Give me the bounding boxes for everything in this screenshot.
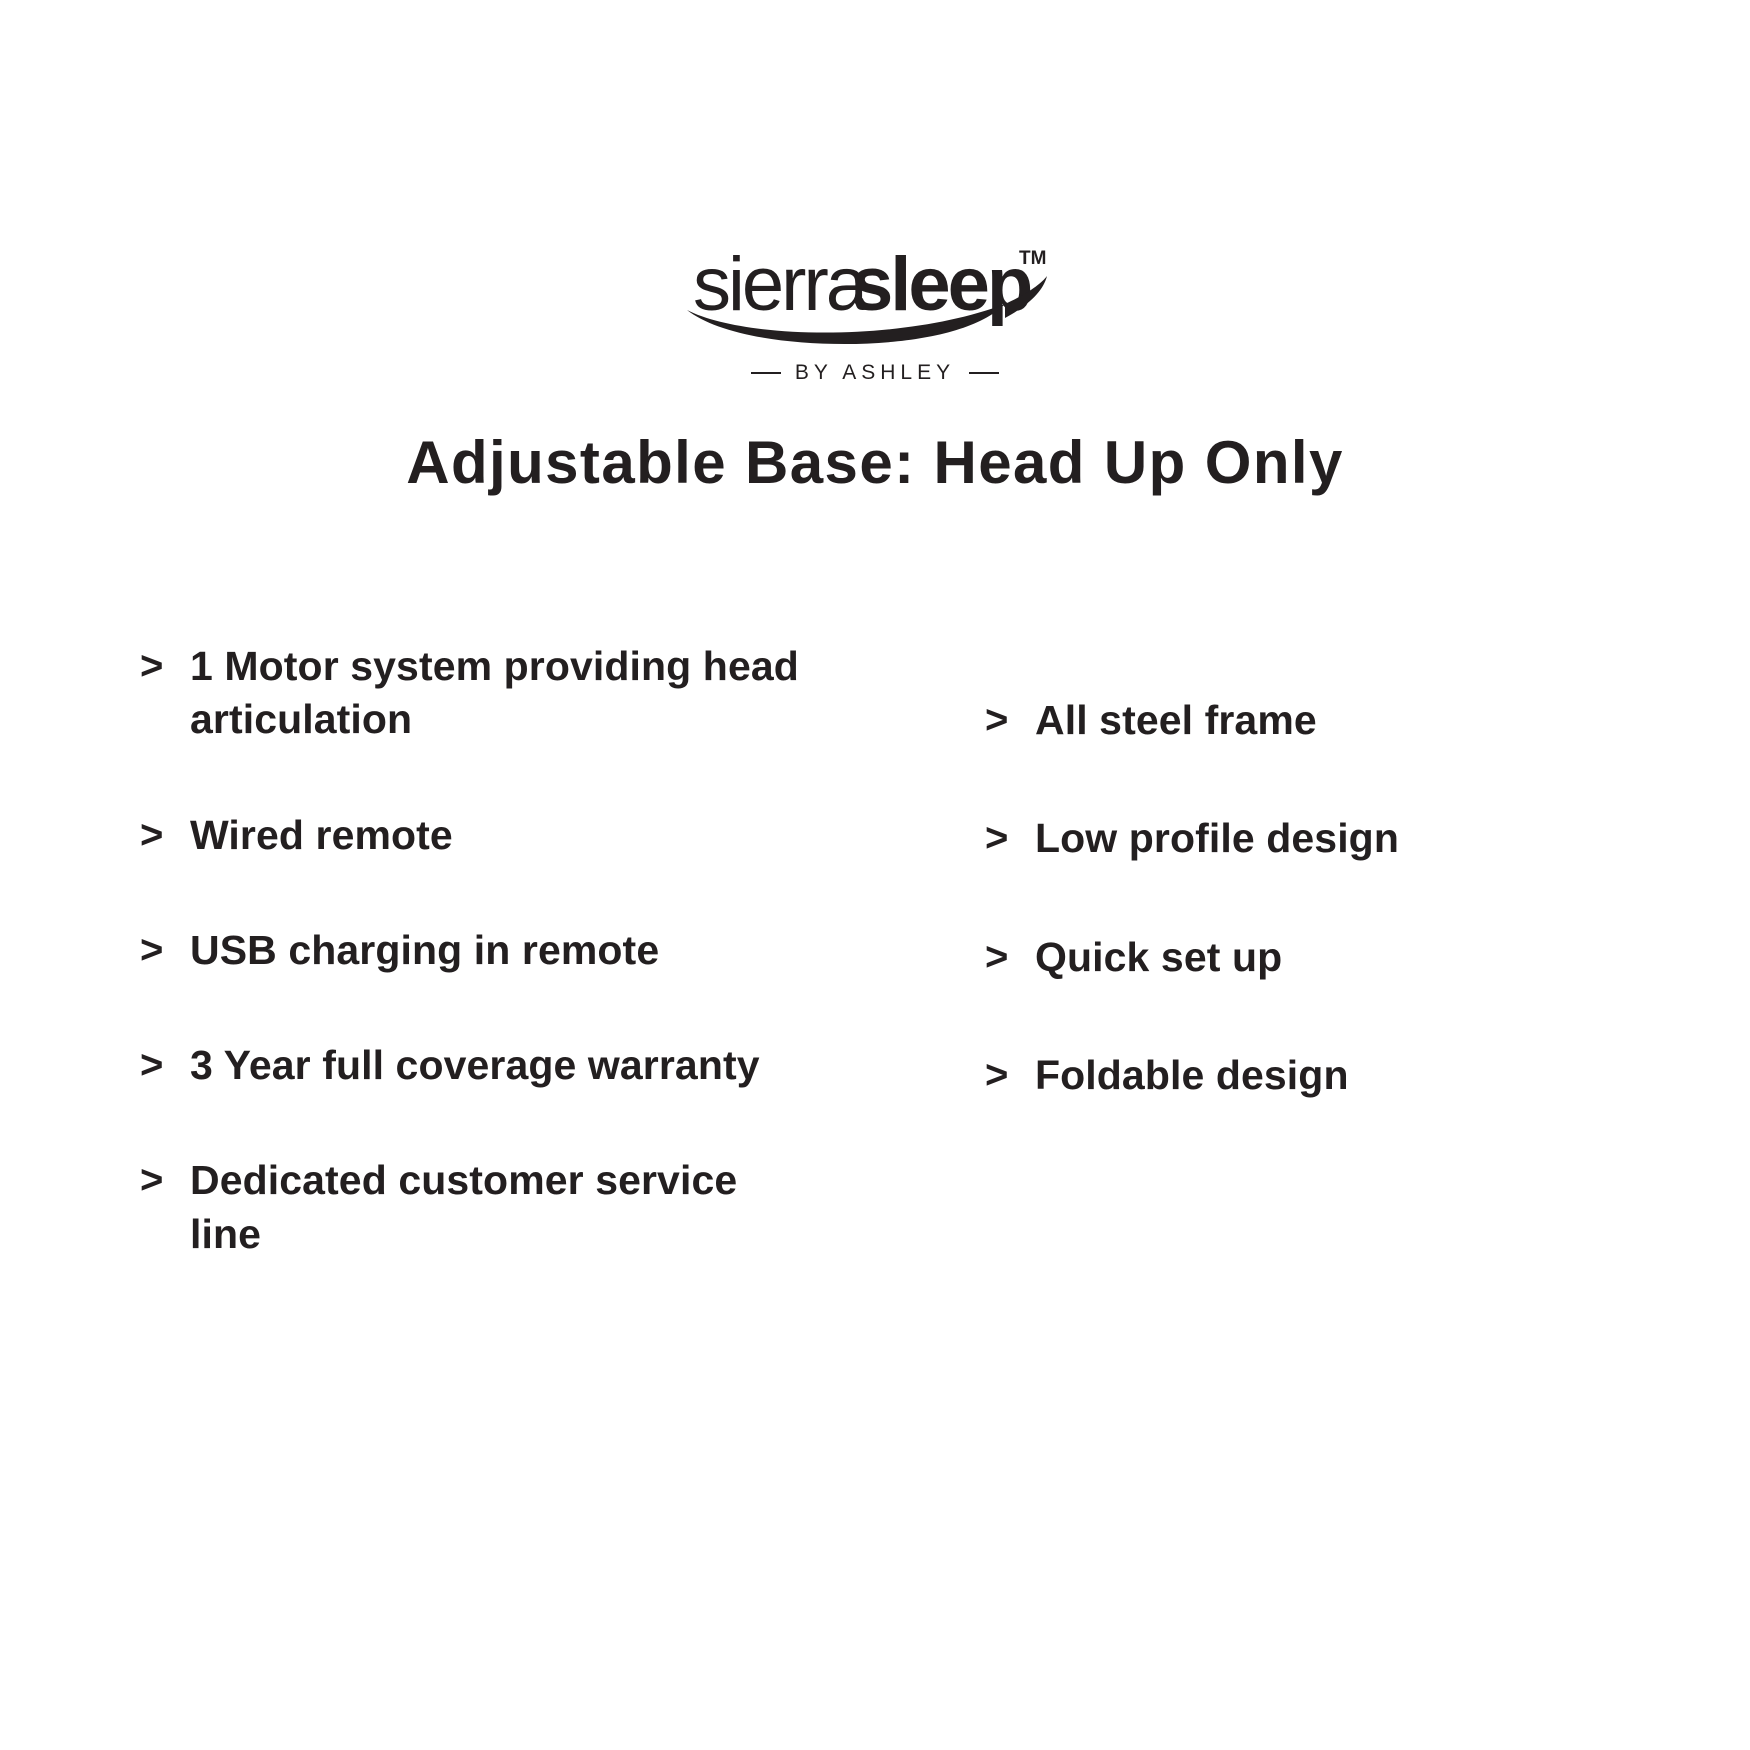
- sierra-sleep-logo-mark: sierra sleep TM: [675, 232, 1075, 350]
- chevron-right-icon: >: [140, 924, 190, 976]
- chevron-right-icon: >: [140, 1039, 190, 1091]
- list-item: > 1 Motor system providing head articula…: [140, 640, 800, 747]
- tagline-dash-left: [751, 372, 781, 374]
- chevron-right-icon: >: [140, 1154, 190, 1206]
- list-item-label: Low profile design: [1035, 812, 1625, 865]
- list-item: > Dedicated customer service line: [140, 1154, 800, 1261]
- list-item-label: Wired remote: [190, 809, 800, 862]
- list-item: > Foldable design: [985, 1049, 1625, 1102]
- list-item-label: USB charging in remote: [190, 924, 800, 977]
- tagline-text: BY ASHLEY: [795, 361, 955, 385]
- tagline-dash-right: [969, 372, 999, 374]
- chevron-right-icon: >: [140, 640, 190, 692]
- list-item-label: 3 Year full coverage warranty: [190, 1039, 800, 1092]
- list-item: > Low profile design: [985, 812, 1625, 865]
- list-item-label: 1 Motor system providing head articulati…: [190, 640, 800, 747]
- list-item-label: Foldable design: [1035, 1049, 1625, 1102]
- feature-column-left: > 1 Motor system providing head articula…: [140, 640, 800, 1261]
- product-feature-card: sierra sleep TM BY ASHLEY Adjustable Bas…: [0, 0, 1750, 1750]
- list-item: > Wired remote: [140, 809, 800, 862]
- svg-text:sleep: sleep: [851, 242, 1031, 327]
- list-item-label: Quick set up: [1035, 931, 1625, 984]
- chevron-right-icon: >: [985, 931, 1035, 983]
- list-item-label: Dedicated customer service line: [190, 1154, 800, 1261]
- chevron-right-icon: >: [140, 809, 190, 861]
- page-title: Adjustable Base: Head Up Only: [0, 430, 1750, 496]
- list-item: > All steel frame: [985, 694, 1625, 747]
- list-item: > 3 Year full coverage warranty: [140, 1039, 800, 1092]
- feature-column-right: > All steel frame > Low profile design >…: [985, 694, 1625, 1102]
- feature-list: > 1 Motor system providing head articula…: [0, 640, 1750, 1380]
- sierrasleep-wordmark-svg: sierra sleep TM: [675, 232, 1075, 350]
- svg-text:sierra: sierra: [693, 242, 869, 327]
- chevron-right-icon: >: [985, 1049, 1035, 1101]
- brand-tagline: BY ASHLEY: [0, 361, 1750, 385]
- list-item-label: All steel frame: [1035, 694, 1625, 747]
- brand-logo: sierra sleep TM BY ASHLEY: [0, 232, 1750, 385]
- list-item: > USB charging in remote: [140, 924, 800, 977]
- svg-text:TM: TM: [1019, 248, 1046, 269]
- chevron-right-icon: >: [985, 694, 1035, 746]
- list-item: > Quick set up: [985, 931, 1625, 984]
- chevron-right-icon: >: [985, 812, 1035, 864]
